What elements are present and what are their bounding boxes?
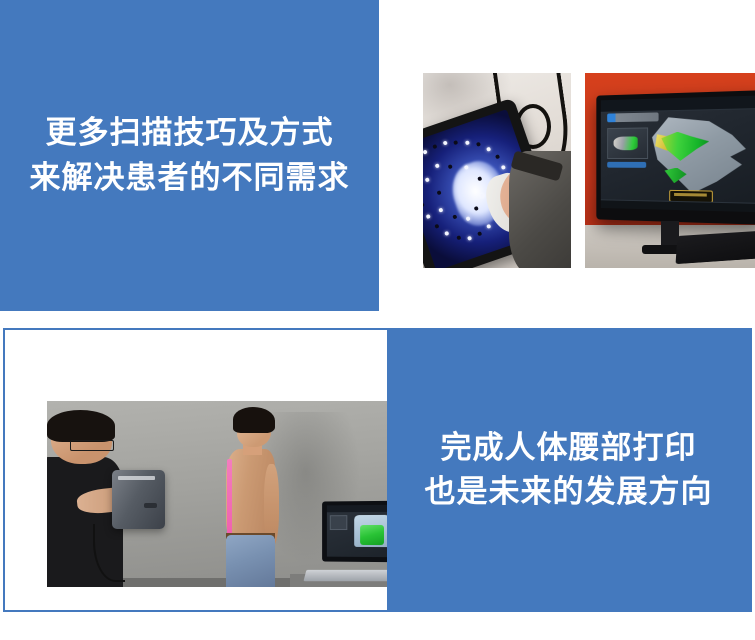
photo-foot-scan-tablet — [423, 73, 571, 268]
photo-back-body-scan — [47, 401, 427, 587]
scan-mesh-gray — [652, 115, 746, 194]
monitor-screen — [601, 95, 755, 212]
software-sidebar-button — [607, 161, 646, 167]
laptop-preview-thumbnail — [330, 515, 348, 530]
torso-scan-model — [354, 515, 389, 547]
spine-marker-line — [227, 459, 232, 539]
software-preview-thumbnail — [607, 127, 648, 159]
photo-monitor-scan-software — [585, 73, 755, 268]
monitor-bezel — [597, 90, 755, 224]
software-logo — [607, 111, 658, 121]
panel-top-caption-line1: 更多扫描技巧及方式 — [46, 111, 334, 155]
panel-top: 更多扫描技巧及方式 来解决患者的不同需求 — [0, 0, 755, 311]
subject-jeans — [226, 535, 275, 587]
subject-hair — [233, 407, 275, 433]
panel-bottom-caption-line2: 也是未来的发展方向 — [425, 470, 713, 514]
handheld-3d-scanner — [112, 470, 165, 530]
software-toolbar — [601, 95, 755, 113]
panel-bottom-caption-line1: 完成人体腰部打印 — [441, 426, 697, 470]
panel-top-caption-line2: 来解决患者的不同需求 — [30, 156, 350, 200]
glasses-icon — [70, 440, 114, 451]
operator-hair — [47, 410, 115, 442]
panel-bottom-caption-block: 完成人体腰部打印 也是未来的发展方向 — [387, 330, 750, 610]
panel-top-caption-block: 更多扫描技巧及方式 来解决患者的不同需求 — [0, 0, 379, 311]
windows-taskbar — [601, 199, 755, 212]
promo-page: 更多扫描技巧及方式 来解决患者的不同需求 — [0, 0, 755, 640]
panel-bottom: 完成人体腰部打印 也是未来的发展方向 — [3, 328, 752, 612]
